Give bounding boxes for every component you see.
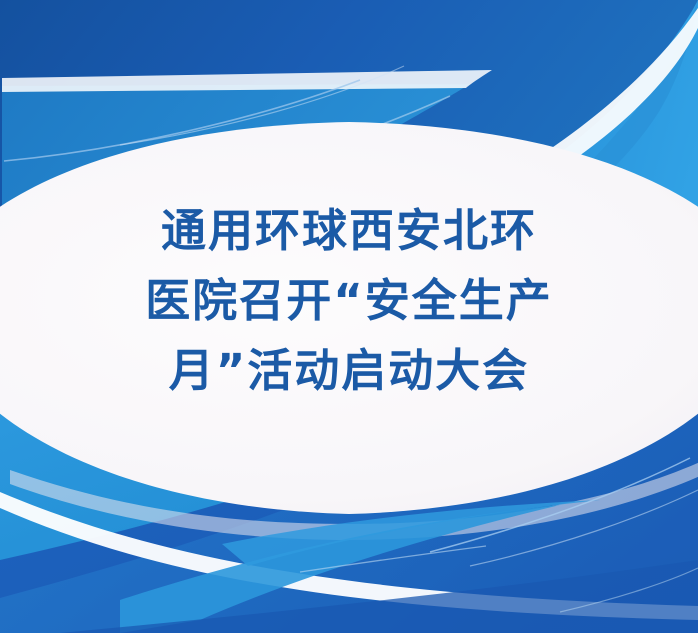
poster-canvas: 通用环球西安北环 医院召开“安全生产 月”活动启动大会 xyxy=(0,0,698,633)
background-artwork xyxy=(0,0,698,633)
center-white-panel xyxy=(0,122,698,514)
